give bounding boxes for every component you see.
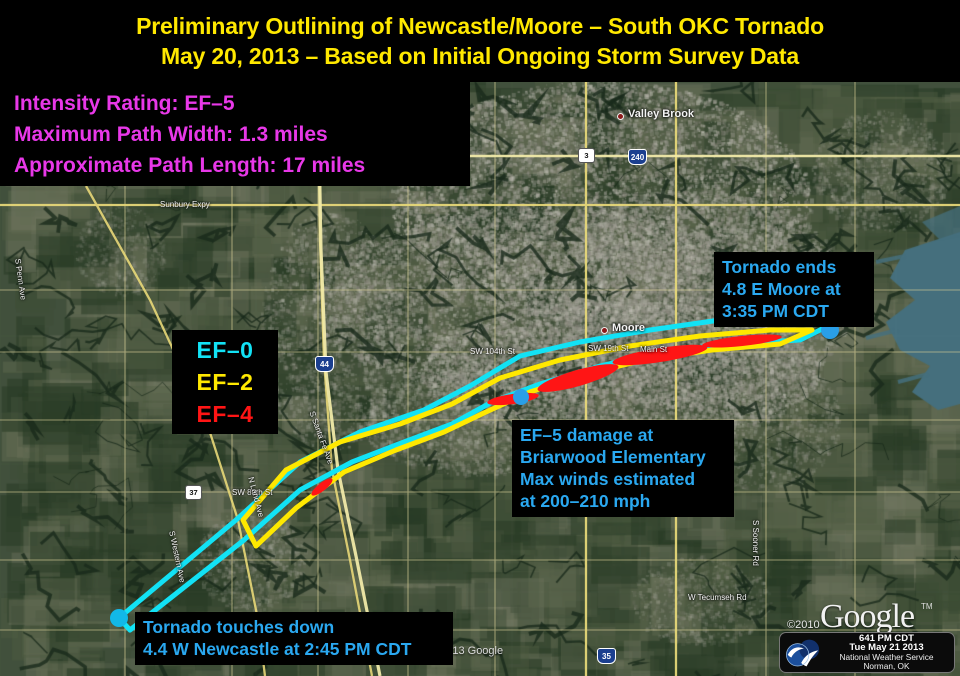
tornado-survey-graphic: Moore Valley Brook Sunbury Expy SW 104th… — [0, 0, 960, 676]
city-dot-valley-brook — [617, 113, 624, 120]
title-line-1: Preliminary Outlining of Newcastle/Moore… — [136, 11, 824, 41]
stat-max-path-width: Maximum Path Width: 1.3 miles — [14, 119, 470, 150]
nws-attribution-stamp: 641 PM CDT Tue May 21 2013 National Weat… — [779, 632, 955, 673]
callout-end-line-2: 4.8 E Moore at — [722, 278, 866, 300]
callout-briarwood-line-4: at 200–210 mph — [520, 490, 726, 512]
title-line-2: May 20, 2013 – Based on Initial Ongoing … — [161, 41, 799, 71]
title-banner: Preliminary Outlining of Newcastle/Moore… — [0, 0, 960, 82]
legend-item-ef2: EF–2 — [197, 366, 254, 398]
city-dot-moore — [601, 327, 608, 334]
callout-briarwood-line-3: Max winds estimated — [520, 468, 726, 490]
google-copyright: ©2010 — [787, 619, 820, 631]
stat-path-length: Approximate Path Length: 17 miles — [14, 150, 470, 181]
noaa-logo-icon — [785, 636, 821, 670]
route-shield-i35: 35 — [597, 648, 616, 664]
ef-rating-legend: EF–0 EF–2 EF–4 — [172, 330, 278, 434]
google-wordmark: Google — [820, 600, 914, 634]
callout-briarwood-line-1: EF–5 damage at — [520, 424, 726, 446]
touchdown-marker — [110, 609, 128, 627]
callout-start-line-2: 4.4 W Newcastle at 2:45 PM CDT — [143, 638, 445, 660]
summary-stats-box: Intensity Rating: EF–5 Maximum Path Widt… — [0, 82, 470, 186]
briarwood-marker — [513, 389, 529, 405]
stat-intensity-rating: Intensity Rating: EF–5 — [14, 88, 470, 119]
callout-end-line-1: Tornado ends — [722, 256, 866, 278]
nws-stamp-text: 641 PM CDT Tue May 21 2013 National Weat… — [824, 634, 949, 672]
callout-end-line-3: 3:35 PM CDT — [722, 300, 866, 322]
callout-briarwood-line-2: Briarwood Elementary — [520, 446, 726, 468]
callout-start-line-1: Tornado touches down — [143, 616, 445, 638]
legend-item-ef0: EF–0 — [197, 334, 254, 366]
callout-tornado-touchdown: Tornado touches down 4.4 W Newcastle at … — [135, 612, 453, 665]
route-shield-i44: 44 — [315, 356, 334, 372]
callout-briarwood-damage: EF–5 damage at Briarwood Elementary Max … — [512, 420, 734, 517]
route-shield-37: 37 — [185, 485, 202, 500]
nws-location: Norman, OK — [824, 662, 949, 672]
callout-tornado-end: Tornado ends 4.8 E Moore at 3:35 PM CDT — [714, 252, 874, 327]
legend-item-ef4: EF–4 — [197, 398, 254, 430]
route-shield-3: 3 — [578, 148, 595, 163]
google-trademark: TM — [921, 602, 933, 611]
route-shield-i240: 240 — [628, 149, 647, 165]
